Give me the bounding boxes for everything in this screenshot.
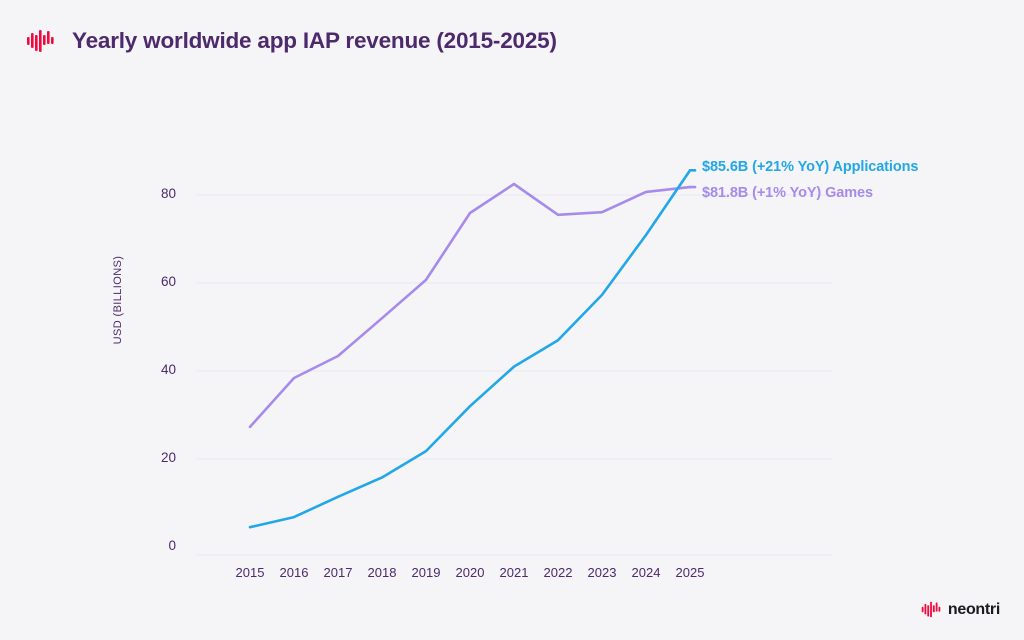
y-tick-label: 60 [136, 274, 176, 289]
series-line-games [250, 184, 690, 427]
y-axis-title: USD (BILLIONS) [112, 220, 124, 380]
y-tick-label: 40 [136, 362, 176, 377]
footer-brand-name: neontri [948, 601, 1000, 619]
y-tick-label: 0 [136, 538, 176, 553]
chart-container: USD (BILLIONS) 020406080 201520162017201… [0, 0, 1024, 640]
footer-brand: neontri [921, 599, 1000, 620]
x-tick-label: 2020 [447, 565, 493, 580]
x-tick-label: 2018 [359, 565, 405, 580]
y-tick-label: 20 [136, 450, 176, 465]
series-line-applications [250, 170, 690, 527]
chart-page: Yearly worldwide app IAP revenue (2015-2… [0, 0, 1024, 640]
x-tick-label: 2024 [623, 565, 669, 580]
x-tick-label: 2021 [491, 565, 537, 580]
series-label-games: $81.8B (+1% YoY) Games [702, 185, 873, 201]
chart-series [250, 170, 695, 527]
x-tick-label: 2017 [315, 565, 361, 580]
x-tick-label: 2019 [403, 565, 449, 580]
x-tick-label: 2025 [667, 565, 713, 580]
x-tick-label: 2015 [227, 565, 273, 580]
y-tick-label: 80 [136, 186, 176, 201]
neontri-waveform-icon [921, 599, 942, 620]
x-tick-label: 2022 [535, 565, 581, 580]
series-label-applications: $85.6B (+21% YoY) Applications [702, 159, 918, 175]
x-tick-label: 2016 [271, 565, 317, 580]
chart-gridlines [196, 195, 832, 459]
x-tick-label: 2023 [579, 565, 625, 580]
